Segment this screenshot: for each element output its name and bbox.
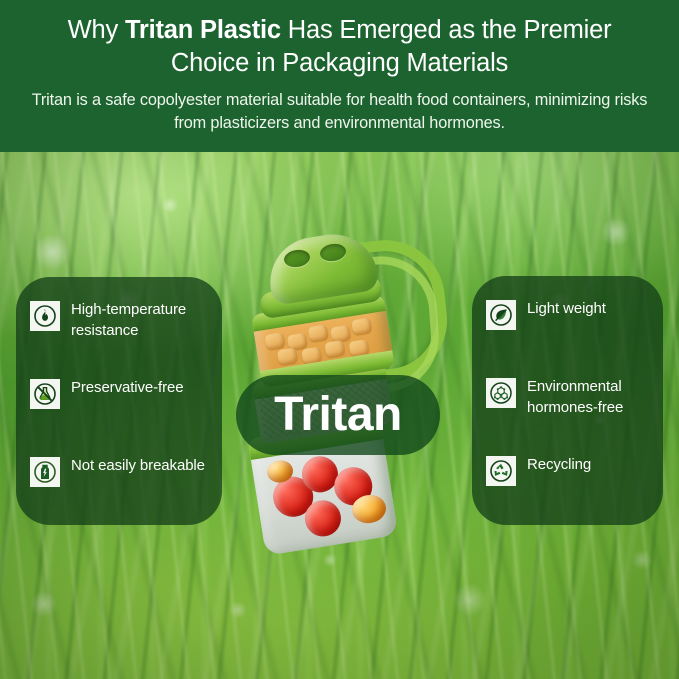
tritan-badge-label: Tritan: [274, 391, 402, 439]
tritan-badge: Tritan: [236, 375, 440, 455]
snack-piece: [308, 324, 329, 342]
page-title: Why Tritan Plastic Has Emerged as the Pr…: [28, 14, 651, 80]
header-subtitle: Tritan is a safe copolyester material su…: [28, 89, 651, 134]
header-banner: Why Tritan Plastic Has Emerged as the Pr…: [0, 0, 679, 152]
feature-item-not-easily-breakable: Not easily breakable: [30, 455, 210, 511]
feature-item-environmental-hormones-free: Environmental hormones-free: [486, 376, 653, 432]
feature-label: High-temperature resistance: [71, 299, 210, 341]
headline-prefix: Why: [68, 16, 125, 44]
feature-item-preservative-free: Preservative-free: [30, 377, 210, 433]
feature-label: Not easily breakable: [71, 455, 205, 477]
feature-card-right: Light weight Environmental horm: [472, 276, 663, 525]
feature-item-high-temperature-resistance: High-temperature resistance: [30, 299, 210, 355]
snack-piece: [324, 340, 345, 358]
unbreakable-bottle-icon: [30, 457, 60, 487]
flame-icon: [30, 301, 60, 331]
feature-label: Environmental hormones-free: [527, 376, 653, 418]
infographic-poster: Why Tritan Plastic Has Emerged as the Pr…: [0, 0, 679, 679]
feature-card-left: High-temperature resistance Preservative…: [16, 277, 222, 525]
feature-item-recycling: Recycling: [486, 454, 653, 510]
no-preservative-flask-icon: [30, 379, 60, 409]
feature-label: Preservative-free: [71, 377, 184, 399]
feature-item-light-weight: Light weight: [486, 298, 653, 354]
snack-piece: [351, 317, 372, 335]
feature-label: Recycling: [527, 454, 591, 476]
molecule-hormone-free-icon: [486, 378, 516, 408]
feature-label: Light weight: [527, 298, 606, 320]
snack-piece: [277, 347, 298, 365]
headline-emphasis: Tritan Plastic: [125, 16, 281, 44]
recycling-icon: [486, 456, 516, 486]
snack-piece: [264, 332, 285, 350]
leaf-icon: [486, 300, 516, 330]
